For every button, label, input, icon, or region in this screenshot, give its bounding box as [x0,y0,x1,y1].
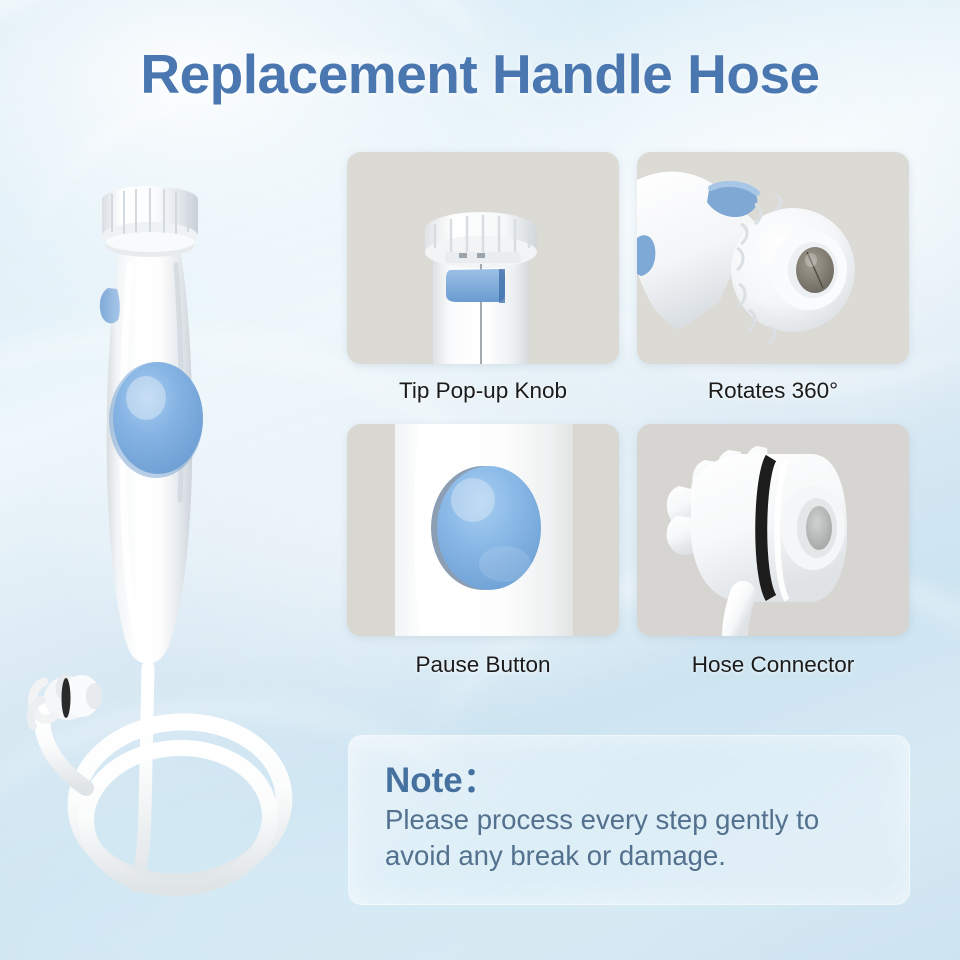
tip-pop-up-knob-image [347,152,619,364]
pause-button-image [347,424,619,636]
hose-stem [136,668,148,886]
feature-card-rotates-360 [637,152,909,364]
feature-caption-pause-button: Pause Button [347,652,619,678]
feature-card-pause-button [347,424,619,636]
feature-caption-tip-pop-up-knob: Tip Pop-up Knob [347,378,619,404]
page-title: Replacement Handle Hose [0,42,960,106]
note-text: Please process every step gently to avoi… [385,802,885,874]
feature-card-hose-connector [637,424,909,636]
connector-bore [806,506,832,550]
release-tab [100,288,120,323]
hose-connector-image [637,424,909,636]
o-ring [62,678,71,718]
rotates-360-image [637,152,909,364]
pop-up-tab [446,269,505,302]
note-label: Note： [385,752,498,803]
hose-coil [42,708,289,893]
product-image [8,170,348,950]
hose-connector-end [31,675,102,726]
tip-knob [102,186,198,257]
product-infographic: Replacement Handle Hose [0,0,960,960]
hose-tail [735,594,743,636]
note-panel: Note： Please process every step gently t… [348,735,910,905]
feature-caption-hose-connector: Hose Connector [637,652,909,678]
feature-card-tip-pop-up-knob [347,152,619,364]
pause-button [113,362,203,474]
feature-caption-rotates-360: Rotates 360° [637,378,909,404]
